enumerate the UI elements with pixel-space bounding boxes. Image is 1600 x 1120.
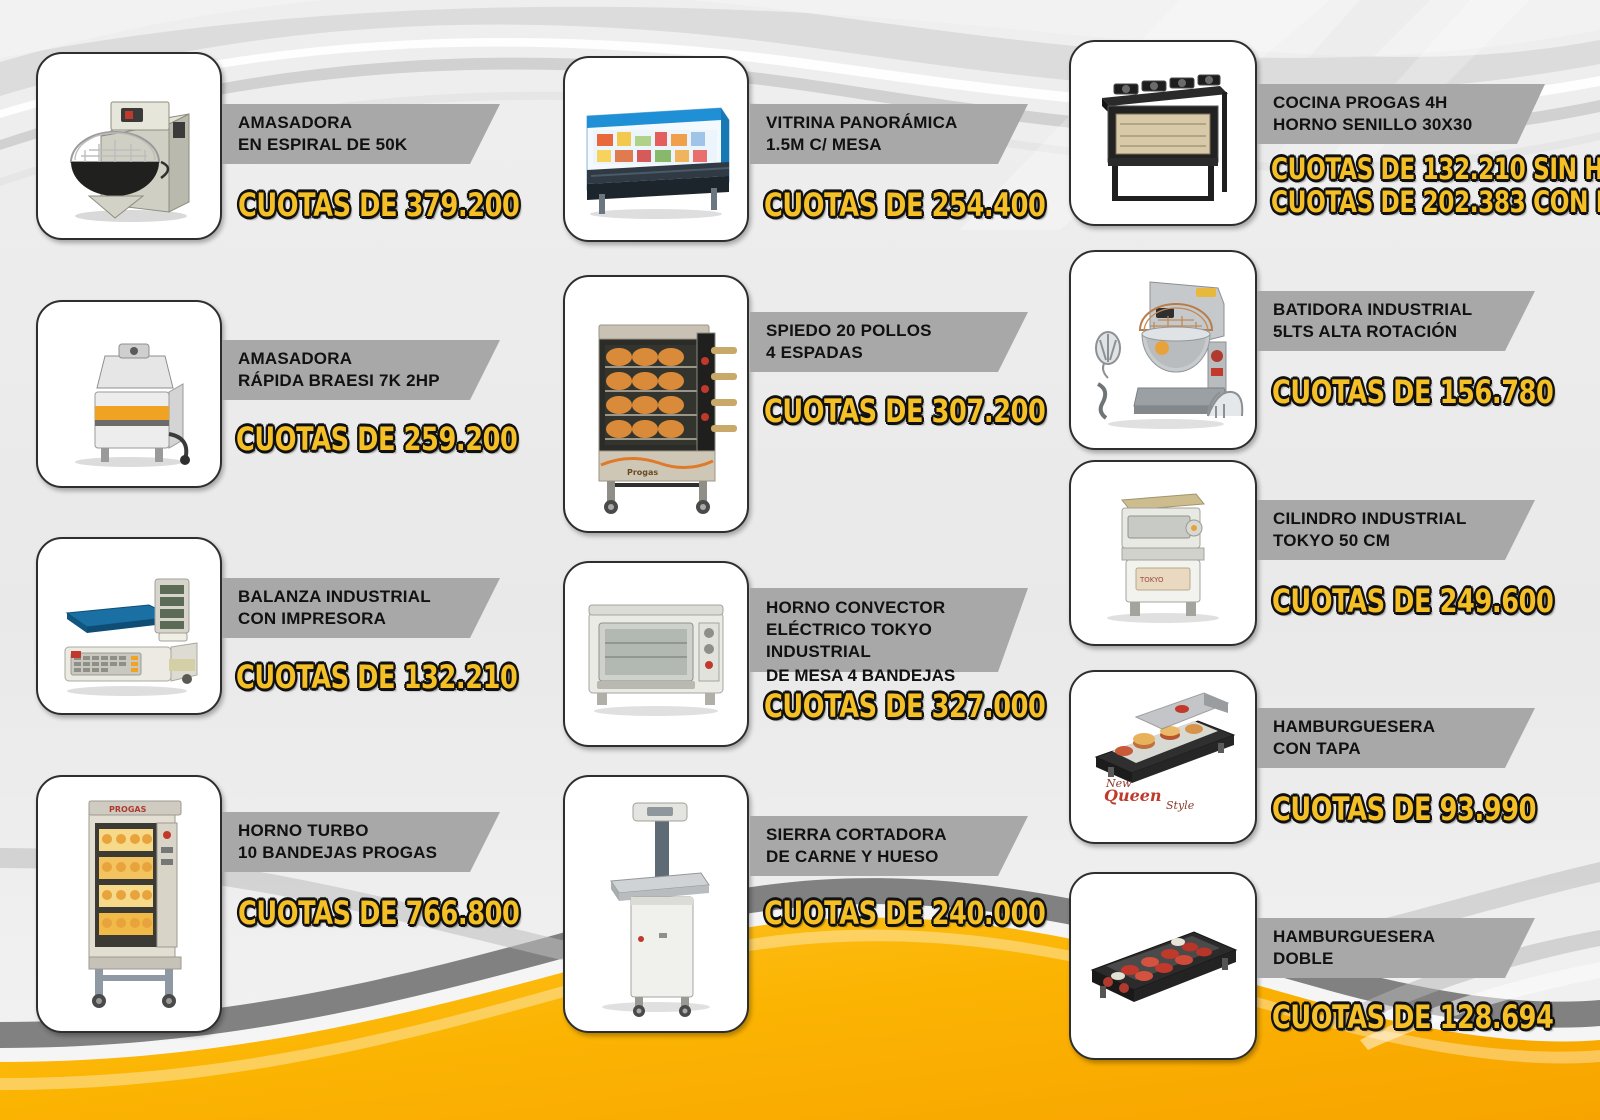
dough-sheeter-photo: TOKYO [1069, 460, 1257, 646]
product-name-line: TOKYO 50 CM [1273, 530, 1505, 552]
burger-griddle-double-photo [1069, 872, 1257, 1060]
product-name-line: 1.5M C/ MESA [766, 134, 998, 156]
band-saw-photo [563, 775, 749, 1033]
banner-arrow [470, 340, 500, 400]
product-name-line: HORNO SENILLO 30X30 [1273, 114, 1517, 136]
product-banner: SPIEDO 20 POLLOS 4 ESPADAS [750, 312, 998, 372]
product-banner: AMASADORA EN ESPIRAL DE 50K [222, 104, 470, 164]
product-banner: BATIDORA INDUSTRIAL 5LTS ALTA ROTACIÓN [1257, 291, 1505, 351]
banner-arrow [998, 816, 1028, 876]
product-price: CUOTAS DE 240.000 [764, 894, 1045, 932]
product-price: CUOTAS DE 327.000 [764, 687, 1045, 725]
display-case-photo [563, 56, 749, 242]
banner-arrow [470, 104, 500, 164]
product-name-line: RÁPIDA BRAESI 7K 2HP [238, 370, 470, 392]
banner-arrow [1505, 500, 1535, 560]
product-banner: COCINA PROGAS 4H HORNO SENILLO 30X30 [1257, 84, 1517, 144]
product-name-line: HAMBURGUESERA [1273, 926, 1505, 948]
product-price: CUOTAS DE 132.210 [236, 658, 517, 696]
product-banner: AMASADORA RÁPIDA BRAESI 7K 2HP [222, 340, 470, 400]
dough-roller-photo [36, 300, 222, 488]
gas-range-photo [1069, 40, 1257, 226]
product-price-secondary: CUOTAS DE 202.383 CON HORNO [1271, 185, 1600, 219]
product-price: CUOTAS DE 766.800 [238, 894, 519, 932]
svg-text:Style: Style [1166, 799, 1195, 812]
product-price: CUOTAS DE 156.780 [1272, 373, 1553, 411]
product-extra-line: DE MESA 4 BANDEJAS [766, 666, 955, 686]
catalog-page: AMASADORA EN ESPIRAL DE 50K CUOTAS DE 37… [0, 0, 1600, 1120]
product-banner: HORNO CONVECTOR ELÉCTRICO TOKYO INDUSTRI… [750, 588, 998, 672]
product-name-line: COCINA PROGAS 4H [1273, 92, 1517, 114]
product-name-line: SPIEDO 20 POLLOS [766, 320, 998, 342]
product-price: CUOTAS DE 307.200 [764, 392, 1045, 430]
svg-text:Progas: Progas [627, 468, 658, 477]
banner-arrow [470, 578, 500, 638]
product-name-line: AMASADORA [238, 112, 470, 134]
product-name-line: CILINDRO INDUSTRIAL [1273, 508, 1505, 530]
product-name-line: 5LTS ALTA ROTACIÓN [1273, 321, 1505, 343]
product-name-line: EN ESPIRAL DE 50K [238, 134, 470, 156]
product-name-line: CON TAPA [1273, 738, 1505, 760]
banner-arrow [998, 588, 1028, 672]
product-name-line: BALANZA INDUSTRIAL [238, 586, 470, 608]
product-name-line: HORNO CONVECTOR [766, 597, 998, 619]
product-name-line: HORNO TURBO [238, 820, 470, 842]
product-banner: VITRINA PANORÁMICA 1.5M C/ MESA [750, 104, 998, 164]
product-name-line: BATIDORA INDUSTRIAL [1273, 299, 1505, 321]
product-banner: HAMBURGUESERA DOBLE [1257, 918, 1505, 978]
product-name-line: 10 BANDEJAS PROGAS [238, 842, 470, 864]
product-price: CUOTAS DE 93.990 [1272, 790, 1536, 828]
product-name-line: INDUSTRIAL [766, 641, 998, 663]
convection-oven-photo [563, 561, 749, 747]
banner-arrow [1505, 918, 1535, 978]
banner-arrow [998, 312, 1028, 372]
product-name-line: HAMBURGUESERA [1273, 716, 1505, 738]
chicken-rotisserie-photo: Progas [563, 275, 749, 533]
product-price: CUOTAS DE 128.694 [1272, 998, 1553, 1036]
turbo-oven-photo: PROGAS [36, 775, 222, 1033]
product-name-line: SIERRA CORTADORA [766, 824, 998, 846]
product-name-line: DE CARNE Y HUESO [766, 846, 998, 868]
product-banner: BALANZA INDUSTRIAL CON IMPRESORA [222, 578, 470, 638]
product-name-line: ELÉCTRICO TOKYO [766, 619, 998, 641]
product-banner: HAMBURGUESERA CON TAPA [1257, 708, 1505, 768]
product-price: CUOTAS DE 254.400 [764, 186, 1045, 224]
product-price: CUOTAS DE 132.210 SIN HORNO [1271, 152, 1600, 186]
svg-text:Queen: Queen [1104, 786, 1162, 805]
product-name-line: CON IMPRESORA [238, 608, 470, 630]
banner-arrow [1505, 708, 1535, 768]
banner-arrow [1505, 291, 1535, 351]
product-price: CUOTAS DE 379.200 [238, 186, 519, 224]
product-price: CUOTAS DE 259.200 [236, 420, 517, 458]
product-banner: HORNO TURBO 10 BANDEJAS PROGAS [222, 812, 470, 872]
industrial-scale-photo [36, 537, 222, 715]
banner-arrow [998, 104, 1028, 164]
burger-grill-lid-photo: New Queen Style [1069, 670, 1257, 844]
product-name-line: VITRINA PANORÁMICA [766, 112, 998, 134]
product-name-line: AMASADORA [238, 348, 470, 370]
product-name-line: 4 ESPADAS [766, 342, 998, 364]
banner-arrow [470, 812, 500, 872]
product-price: CUOTAS DE 249.600 [1272, 582, 1553, 620]
banner-arrow [1517, 84, 1545, 144]
spiral-mixer-photo [36, 52, 222, 240]
svg-text:TOKYO: TOKYO [1139, 576, 1164, 584]
product-banner: CILINDRO INDUSTRIAL TOKYO 50 CM [1257, 500, 1505, 560]
product-banner: SIERRA CORTADORA DE CARNE Y HUESO [750, 816, 998, 876]
planetary-mixer-photo [1069, 250, 1257, 450]
product-name-line: DOBLE [1273, 948, 1505, 970]
svg-text:PROGAS: PROGAS [109, 805, 147, 814]
